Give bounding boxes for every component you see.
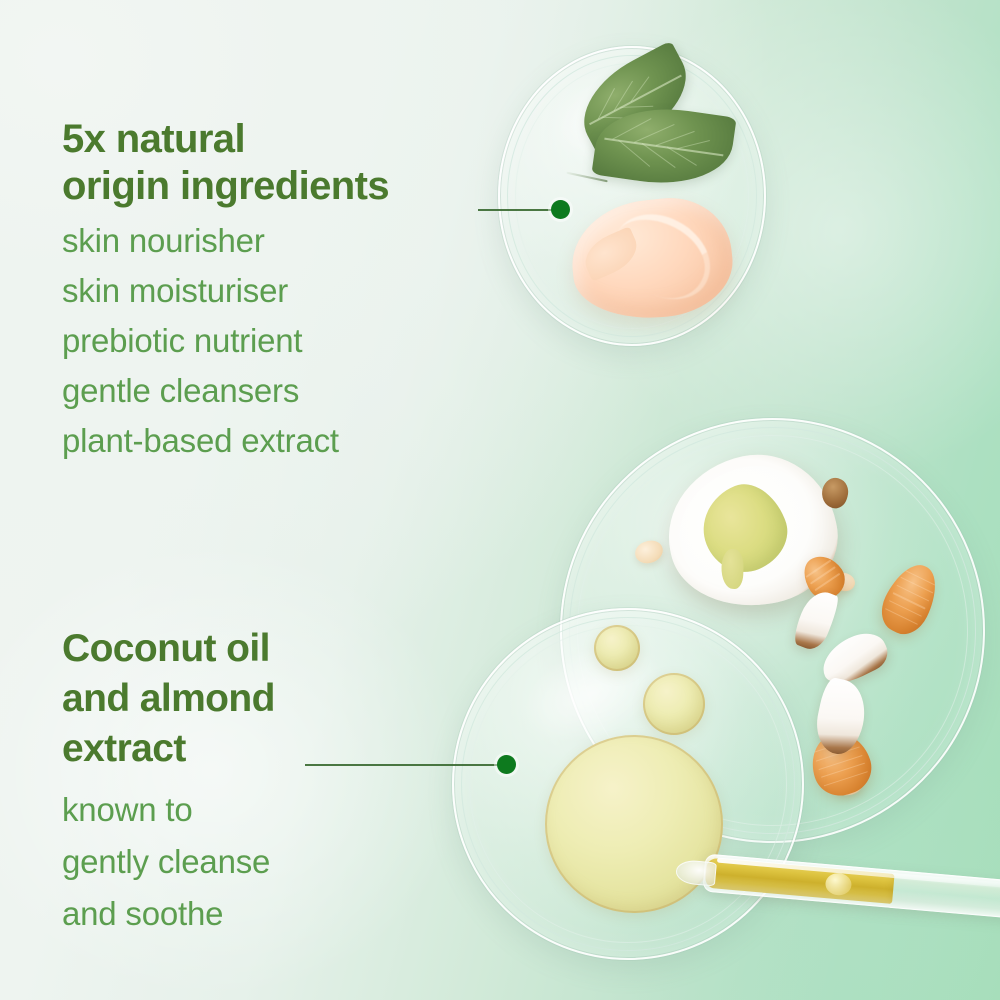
pipette-tip — [675, 859, 717, 886]
headline-line-3: extract — [62, 724, 275, 774]
benefit-list: known to gently cleanse and soothe — [62, 784, 275, 940]
benefit-item: and soothe — [62, 888, 275, 940]
benefit-item: gentle cleansers — [62, 366, 389, 416]
callout-line — [478, 209, 556, 211]
infographic-canvas: 5x natural origin ingredients skin nouri… — [0, 0, 1000, 1000]
benefit-list: skin nourisher skin moisturiser prebioti… — [62, 216, 389, 466]
headline-line-2: and almond — [62, 674, 275, 724]
benefit-item: gently cleanse — [62, 836, 275, 888]
callout-dot[interactable] — [497, 755, 516, 774]
leaf-vein — [621, 106, 654, 108]
leaf-vein — [656, 131, 695, 146]
leaf-vein — [677, 140, 709, 149]
headline-line-1: Coconut oil — [62, 624, 275, 674]
headline-line-1: 5x natural — [62, 116, 389, 163]
callout-text-natural-origin: 5x natural origin ingredients skin nouri… — [62, 116, 389, 466]
benefit-item: skin moisturiser — [62, 266, 389, 316]
oil-drop-medium — [643, 673, 705, 735]
benefit-item: known to — [62, 784, 275, 836]
coconut-oil-drip — [721, 549, 744, 590]
oil-drop-small — [594, 625, 640, 671]
headline-line-2: origin ingredients — [62, 163, 389, 210]
benefit-item: plant-based extract — [62, 416, 389, 466]
callout-dot[interactable] — [551, 200, 570, 219]
benefit-item: skin nourisher — [62, 216, 389, 266]
benefit-item: prebiotic nutrient — [62, 316, 389, 366]
callout-line — [305, 764, 503, 766]
callout-text-coconut-almond: Coconut oil and almond extract known to … — [62, 624, 275, 940]
